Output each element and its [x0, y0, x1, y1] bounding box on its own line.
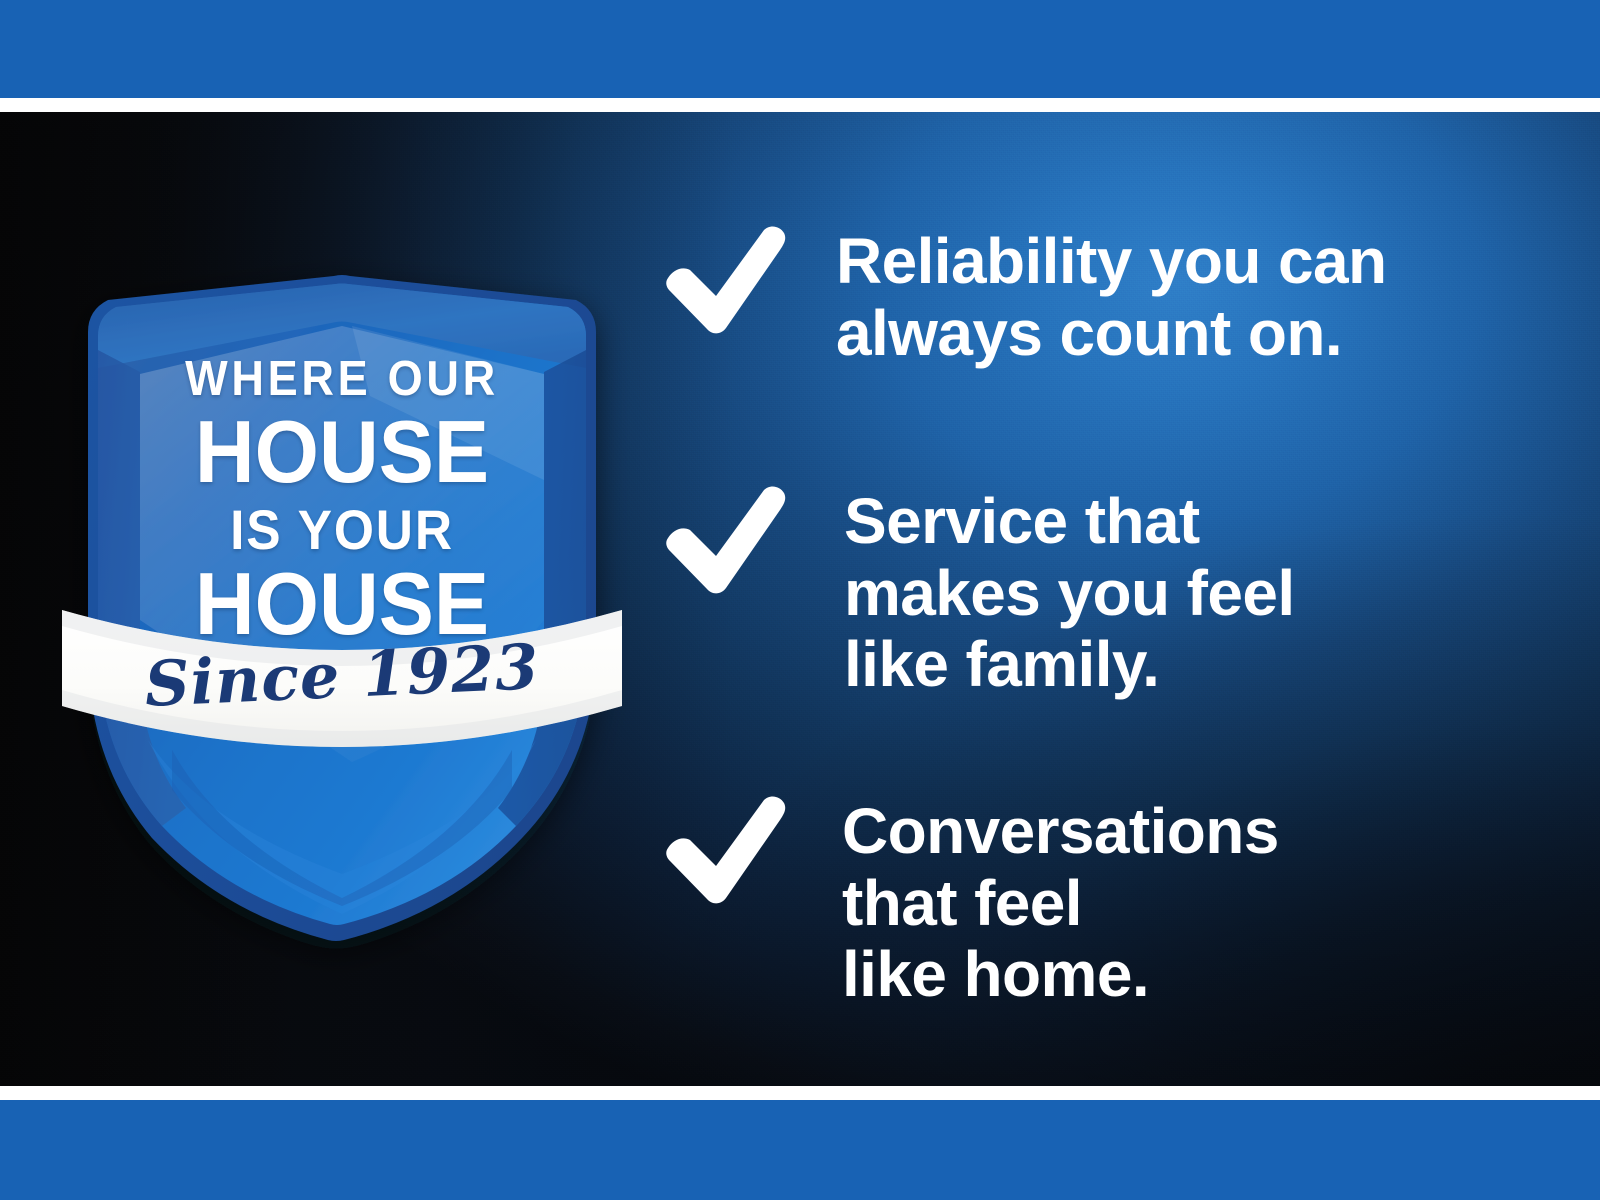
checkmark-icon	[660, 482, 790, 600]
benefits-list: Reliability you can always count on. Ser…	[660, 112, 1540, 1086]
checkmark-icon	[660, 222, 790, 340]
benefit-item: Conversations that feel like home.	[660, 792, 1279, 1011]
top-white-divider	[0, 98, 1600, 112]
benefit-text: Conversations that feel like home.	[842, 792, 1279, 1011]
benefit-item: Reliability you can always count on.	[660, 222, 1387, 369]
benefit-item: Service that makes you feel like family.	[660, 482, 1295, 701]
benefit-line: makes you feel	[844, 558, 1295, 630]
promo-graphic-canvas: WHERE OUR HOUSE IS YOUR HOUSE Since 1923…	[0, 0, 1600, 1200]
benefit-line: Conversations	[842, 796, 1279, 868]
bottom-brand-bar	[0, 1100, 1600, 1200]
benefit-text: Service that makes you feel like family.	[844, 482, 1295, 701]
benefit-line: like family.	[844, 629, 1295, 701]
top-brand-bar	[0, 0, 1600, 98]
shield-body	[88, 275, 596, 941]
benefit-text: Reliability you can always count on.	[836, 222, 1387, 369]
checkmark-icon	[660, 792, 790, 910]
benefit-line: Service that	[844, 486, 1295, 558]
benefit-line: Reliability you can	[836, 226, 1387, 298]
shield-badge: WHERE OUR HOUSE IS YOUR HOUSE Since 1923	[52, 150, 632, 960]
benefit-line: like home.	[842, 939, 1279, 1011]
benefit-line: always count on.	[836, 298, 1387, 370]
benefit-line: that feel	[842, 868, 1279, 940]
bottom-white-divider	[0, 1086, 1600, 1100]
